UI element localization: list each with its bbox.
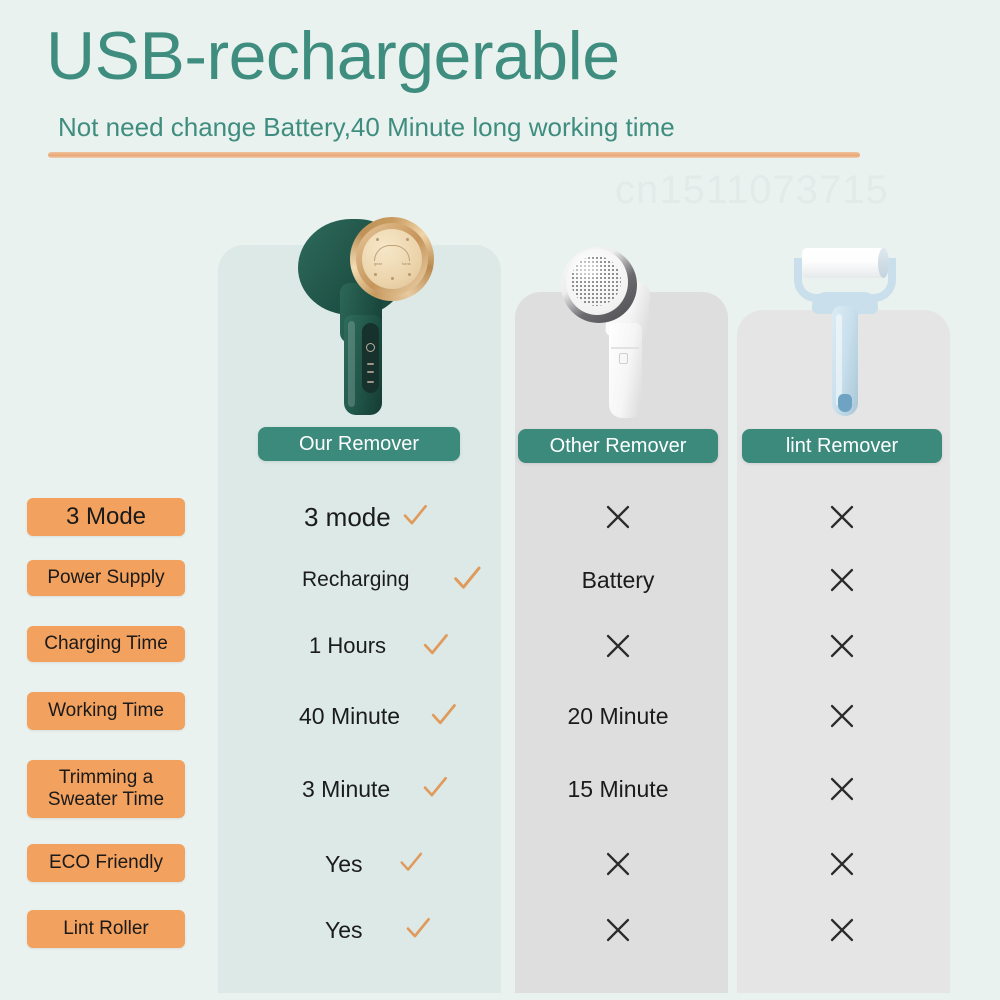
check-icon [403, 913, 433, 943]
cell-value: Yes [325, 851, 363, 878]
roller-handle-highlight [836, 314, 842, 406]
watermark: cn1511073715 [615, 168, 889, 213]
power-button-icon [366, 343, 375, 352]
green-face-label-left: gear [374, 261, 382, 266]
cell-value: Yes [325, 917, 363, 944]
cell-our-2: 1 Hours [309, 628, 386, 664]
roller-cylinder [802, 248, 886, 278]
check-icon [428, 699, 459, 730]
cell-value: Battery [582, 567, 655, 594]
cross-icon [824, 499, 860, 535]
green-face-dot [376, 238, 379, 241]
feature-label-power-supply: Power Supply [27, 560, 185, 596]
cell-our-0: 3 mode [304, 499, 391, 535]
cross-icon [600, 499, 636, 535]
cell-our-6: Yes [325, 912, 363, 948]
feature-label-lint-roller: Lint Roller [27, 910, 185, 948]
header: USB-rechargerable Not need change Batter… [0, 0, 1000, 170]
white-shaver-face [566, 249, 628, 315]
feature-label-text: 3 Mode [66, 503, 146, 531]
cell-value: 1 Hours [309, 633, 386, 659]
feature-label-3-mode: 3 Mode [27, 498, 185, 536]
roller-handle-tip [838, 394, 852, 412]
feature-label-eco-friendly: ECO Friendly [27, 844, 185, 882]
cell-value: 40 Minute [299, 703, 400, 730]
page-subtitle: Not need change Battery,40 Minute long w… [58, 112, 675, 143]
cell-our-5: Yes [325, 846, 363, 882]
white-power-button-icon [619, 353, 628, 364]
infographic-canvas: USB-rechargerable Not need change Batter… [0, 0, 1000, 1000]
feature-label-working-time: Working Time [27, 692, 185, 730]
feature-label-text: ECO Friendly [49, 852, 163, 874]
cell-other-3: 20 Minute [508, 698, 728, 734]
green-strip-tick [367, 363, 374, 365]
green-face-dot [408, 273, 411, 276]
cross-icon [824, 912, 860, 948]
cross-icon [824, 628, 860, 664]
green-strip-tick [367, 371, 374, 373]
cell-other-1: Battery [508, 562, 728, 598]
product-image-blue-lint-roller [788, 246, 903, 421]
cell-other-4: 15 Minute [508, 771, 728, 807]
product-image-green-usb-lint-remover: gear hank [288, 205, 438, 420]
cell-value: Recharging [302, 568, 409, 592]
white-handle-seam [611, 347, 639, 349]
check-icon [420, 772, 450, 802]
header-divider [48, 152, 860, 158]
feature-label-text: Charging Time [44, 633, 168, 655]
column-header-other-remover[interactable]: Other Remover [518, 429, 718, 463]
check-icon [397, 848, 425, 876]
roller-cylinder-cap [878, 248, 889, 278]
cell-value: 3 mode [304, 502, 391, 533]
cell-our-4: 3 Minute [302, 771, 390, 807]
feature-label-text: Lint Roller [63, 918, 149, 940]
cell-value: 15 Minute [567, 776, 668, 803]
page-title: USB-rechargerable [46, 22, 620, 90]
cross-icon [824, 698, 860, 734]
green-face-dot [391, 277, 394, 280]
white-device-handle [609, 323, 642, 418]
cell-our-1: Recharging [302, 562, 409, 598]
check-icon [450, 561, 484, 595]
column-header-lint-remover[interactable]: lint Remover [742, 429, 942, 463]
feature-label-trimming-a-sweater-time: Trimming aSweater Time [27, 760, 185, 818]
cross-icon [824, 562, 860, 598]
feature-label-text: Power Supply [47, 567, 164, 589]
cross-icon [600, 912, 636, 948]
cross-icon [824, 846, 860, 882]
cell-value: 3 Minute [302, 776, 390, 803]
column-header-our-remover[interactable]: Our Remover [258, 427, 460, 461]
cell-our-3: 40 Minute [299, 698, 400, 734]
check-icon [420, 629, 451, 660]
green-face-dot [374, 273, 377, 276]
cell-value: 20 Minute [567, 703, 668, 730]
check-icon [400, 500, 430, 530]
green-handle-highlight [348, 321, 355, 407]
feature-label-text: Trimming aSweater Time [48, 767, 164, 811]
feature-label-charging-time: Charging Time [27, 626, 185, 662]
cross-icon [600, 846, 636, 882]
green-face-label-right: hank [402, 261, 411, 266]
cross-icon [824, 771, 860, 807]
cross-icon [600, 628, 636, 664]
white-shaver-highlight [574, 259, 600, 279]
feature-label-text: Working Time [48, 700, 164, 722]
green-face-dot [406, 238, 409, 241]
product-image-white-lint-remover [553, 243, 673, 423]
green-strip-tick [367, 381, 374, 383]
